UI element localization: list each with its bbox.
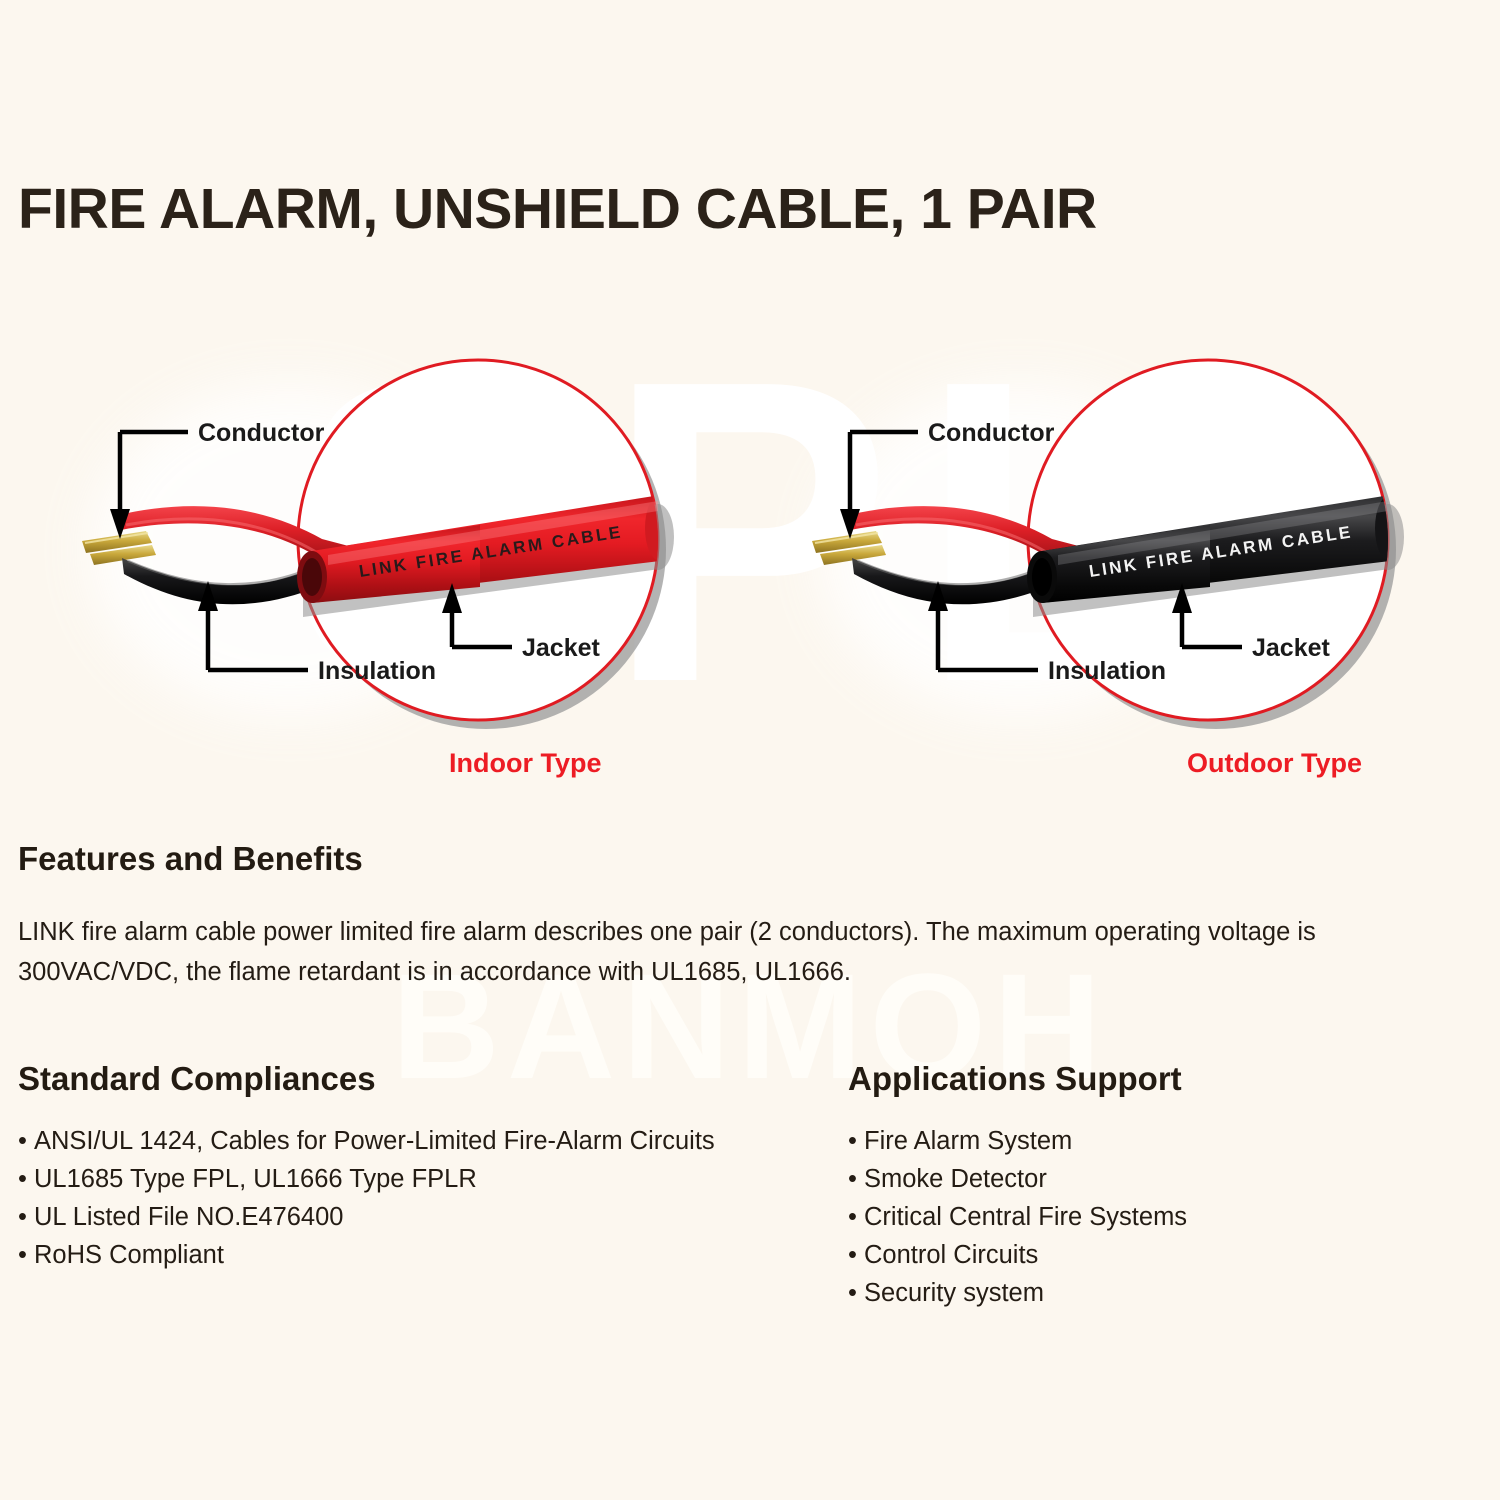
application-list-item: •Control Circuits [848, 1236, 1478, 1274]
application-list-item: •Smoke Detector [848, 1160, 1478, 1198]
copper-conductor-tips-outdoor [812, 531, 886, 565]
application-list-item-label: Critical Central Fire Systems [864, 1203, 1187, 1231]
callout-leader-insulation-outdoor [938, 610, 1038, 670]
type-label-indoor: Indoor Type [449, 748, 602, 779]
callout-label-jacket-indoor: Jacket [522, 634, 601, 662]
compliance-list-item-label: UL Listed File NO.E476400 [34, 1203, 343, 1231]
bullet-icon: • [18, 1122, 34, 1160]
callout-label-conductor-indoor: Conductor [198, 419, 325, 447]
type-label-outdoor: Outdoor Type [1187, 748, 1362, 779]
features-heading: Features and Benefits [18, 840, 363, 878]
application-list-item-label: Control Circuits [864, 1241, 1038, 1269]
standard-compliances-heading: Standard Compliances [18, 1060, 376, 1098]
callout-label-insulation-indoor: Insulation [318, 657, 436, 685]
bullet-icon: • [18, 1160, 34, 1198]
application-list-item: •Fire Alarm System [848, 1122, 1478, 1160]
compliance-list-item: •ANSI/UL 1424, Cables for Power-Limited … [18, 1122, 808, 1160]
callout-leader-conductor-indoor [120, 432, 188, 510]
bullet-icon: • [848, 1122, 864, 1160]
diagram-indoor-cable: LINK FIRE ALARM CABLE Conductor Insulati… [60, 355, 780, 805]
callout-leader-conductor-outdoor [850, 432, 918, 510]
bullet-icon: • [848, 1160, 864, 1198]
standard-compliances-list: •ANSI/UL 1424, Cables for Power-Limited … [18, 1122, 808, 1274]
bullet-icon: • [848, 1274, 864, 1312]
callout-label-jacket-outdoor: Jacket [1252, 634, 1331, 662]
compliance-list-item: •RoHS Compliant [18, 1236, 808, 1274]
bullet-icon: • [18, 1198, 34, 1236]
callout-label-insulation-outdoor: Insulation [1048, 657, 1166, 685]
applications-support-list: •Fire Alarm System•Smoke Detector•Critic… [848, 1122, 1478, 1312]
application-list-item: •Security system [848, 1274, 1478, 1312]
diagram-outdoor-cable: LINK FIRE ALARM CABLE Conductor Insulati… [790, 355, 1500, 805]
compliance-list-item: •UL1685 Type FPL, UL1666 Type FPLR [18, 1160, 808, 1198]
compliance-list-item: •UL Listed File NO.E476400 [18, 1198, 808, 1236]
bullet-icon: • [848, 1198, 864, 1236]
features-body-text: LINK fire alarm cable power limited fire… [18, 912, 1482, 992]
application-list-item-label: Security system [864, 1279, 1044, 1307]
application-list-item-label: Fire Alarm System [864, 1127, 1072, 1155]
compliance-list-item-label: UL1685 Type FPL, UL1666 Type FPLR [34, 1165, 477, 1193]
callout-label-conductor-outdoor: Conductor [928, 419, 1055, 447]
callout-leader-insulation-indoor [208, 610, 308, 670]
page-title: FIRE ALARM, UNSHIELD CABLE, 1 PAIR [18, 176, 1097, 242]
copper-conductor-tips-indoor [82, 531, 156, 565]
application-list-item-label: Smoke Detector [864, 1165, 1047, 1193]
bullet-icon: • [18, 1236, 34, 1274]
application-list-item: •Critical Central Fire Systems [848, 1198, 1478, 1236]
compliance-list-item-label: ANSI/UL 1424, Cables for Power-Limited F… [34, 1127, 715, 1155]
bullet-icon: • [848, 1236, 864, 1274]
applications-support-heading: Applications Support [848, 1060, 1182, 1098]
compliance-list-item-label: RoHS Compliant [34, 1241, 224, 1269]
